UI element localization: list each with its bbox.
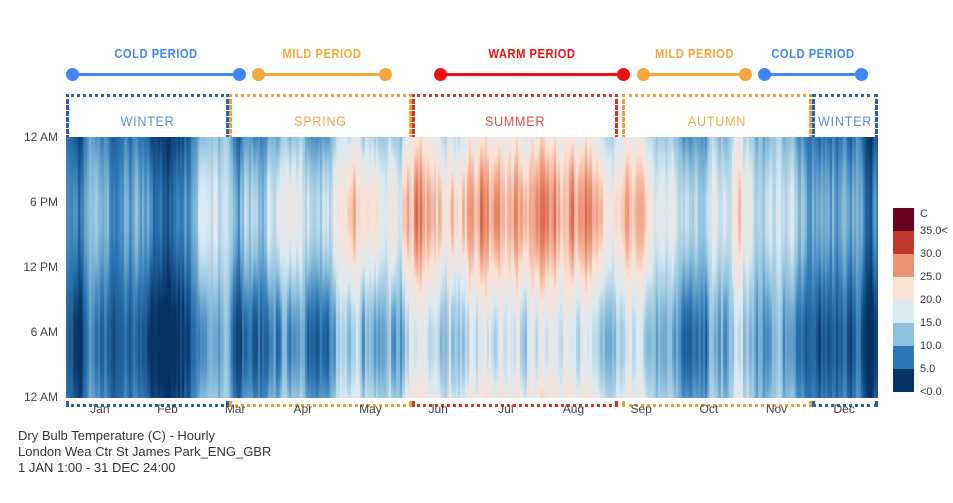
period-label: MILD PERIOD	[645, 46, 744, 61]
caption-line-1: Dry Bulb Temperature (C) - Hourly	[18, 428, 271, 444]
period-endpoint-dot	[233, 68, 246, 81]
legend-swatch	[893, 208, 914, 231]
period-line	[764, 73, 862, 76]
x-axis-tick: Mar	[201, 402, 269, 416]
caption-line-2: London Wea Ctr St James Park_ENG_GBR	[18, 444, 271, 460]
season-label: SUMMER	[425, 113, 605, 129]
legend-swatch	[893, 369, 914, 392]
season-label: WINTER	[818, 113, 872, 129]
season-box: AUTUMN	[622, 94, 812, 138]
period-marker: MILD PERIOD	[637, 46, 752, 86]
period-marker: COLD PERIOD	[66, 46, 246, 86]
period-line	[72, 73, 240, 76]
x-axis-tick: Oct	[675, 402, 743, 416]
legend-swatch	[893, 231, 914, 254]
legend-tick-label: 15.0	[920, 317, 941, 329]
season-box: SPRING	[229, 94, 412, 138]
legend-swatch	[893, 254, 914, 277]
period-endpoint-dot	[252, 68, 265, 81]
legend-tick-label: 20.0	[920, 294, 941, 306]
period-marker: COLD PERIOD	[758, 46, 868, 86]
x-axis-tick: Jun	[404, 402, 472, 416]
x-axis-tick: Feb	[134, 402, 202, 416]
y-axis-tick: 12 AM	[24, 130, 58, 144]
x-axis-tick: Apr	[269, 402, 337, 416]
period-label: WARM PERIOD	[448, 46, 617, 61]
x-axis-tick: Dec	[810, 402, 878, 416]
legend-tick-label: 30.0	[920, 248, 941, 260]
legend-swatch	[893, 346, 914, 369]
legend-tick-label: 25.0	[920, 271, 941, 283]
x-axis-tick: Aug	[540, 402, 608, 416]
period-line	[258, 73, 386, 76]
period-label: COLD PERIOD	[79, 46, 234, 61]
caption-line-3: 1 JAN 1:00 - 31 DEC 24:00	[18, 460, 271, 476]
legend-swatch	[893, 300, 914, 323]
legend-tick-label: 35.0<	[920, 225, 948, 237]
legend-swatch	[893, 323, 914, 346]
period-endpoint-dot	[66, 68, 79, 81]
x-axis-tick: Jul	[472, 402, 540, 416]
x-axis: JanFebMarAprMayJunJulAugSepOctNovDec	[66, 400, 878, 422]
season-label: WINTER	[77, 113, 218, 129]
x-axis-tick: Nov	[743, 402, 811, 416]
season-box: WINTER	[812, 94, 878, 138]
period-marker: MILD PERIOD	[252, 46, 392, 86]
legend-swatch	[893, 277, 914, 300]
period-label: COLD PERIOD	[766, 46, 861, 61]
period-endpoint-dot	[758, 68, 771, 81]
x-axis-tick: Jan	[66, 402, 134, 416]
season-box: SUMMER	[412, 94, 618, 138]
period-endpoint-dot	[617, 68, 630, 81]
caption: Dry Bulb Temperature (C) - Hourly London…	[18, 428, 271, 476]
legend-unit-label: C	[920, 208, 928, 220]
legend-tick-label: <0.0	[920, 386, 942, 398]
heatmap-canvas	[66, 137, 878, 398]
y-axis-tick: 6 PM	[30, 195, 58, 209]
period-endpoint-dot	[379, 68, 392, 81]
color-legend: C35.0<30.025.020.015.010.05.0<0.0	[893, 208, 953, 398]
period-endpoint-dot	[637, 68, 650, 81]
legend-tick-label: 5.0	[920, 363, 935, 375]
period-line	[440, 73, 624, 76]
season-label: AUTUMN	[634, 113, 800, 129]
season-label: SPRING	[241, 113, 400, 129]
period-marker: WARM PERIOD	[434, 46, 630, 86]
period-line	[643, 73, 746, 76]
period-label: MILD PERIOD	[262, 46, 382, 61]
y-axis-tick: 12 AM	[24, 390, 58, 404]
legend-tick-label: 10.0	[920, 340, 941, 352]
x-axis-tick: May	[337, 402, 405, 416]
period-endpoint-dot	[855, 68, 868, 81]
y-axis-tick: 12 PM	[23, 260, 58, 274]
period-marker-row: COLD PERIODMILD PERIODWARM PERIODMILD PE…	[0, 46, 953, 86]
period-endpoint-dot	[739, 68, 752, 81]
x-axis-tick: Sep	[607, 402, 675, 416]
season-box: WINTER	[66, 94, 229, 138]
y-axis-tick: 6 AM	[31, 325, 58, 339]
temperature-heatmap	[66, 137, 878, 398]
period-endpoint-dot	[434, 68, 447, 81]
